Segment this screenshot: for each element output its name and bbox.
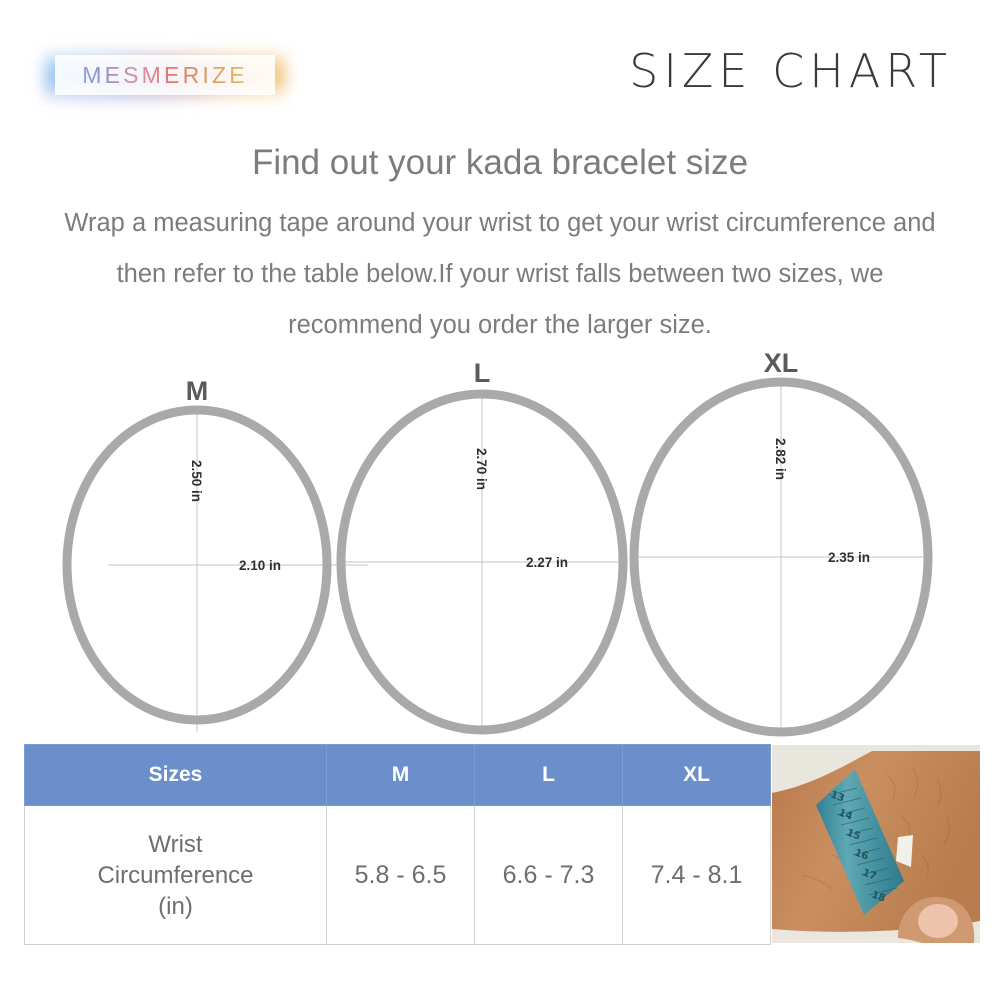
thumbnail [918,904,958,938]
intro-heading: Find out your kada bracelet size [0,143,1000,183]
wrist-measurement-photo: 13 14 15 16 17 18 [772,745,980,943]
brand-logo: MESMERIZE [44,44,286,106]
oval-label-xl: XL [764,350,799,378]
oval-height-label-m: 2.50 in [189,460,204,502]
table-header-l: L [475,745,623,806]
oval-width-label-m: 2.10 in [239,558,281,573]
intro-paragraph: Wrap a measuring tape around your wrist … [50,198,950,351]
oval-label-l: L [474,358,491,388]
page-title: SIZE CHART [629,44,952,98]
cell-wrist-xl: 7.4 - 8.1 [623,806,771,945]
oval-label-m: M [186,376,209,406]
row-label-line-1: Wrist [26,829,325,860]
table-header-row: Sizes M L XL [25,745,771,806]
table-header-sizes: Sizes [25,745,327,806]
brand-name: MESMERIZE [55,55,275,95]
row-label-line-2: Circumference [26,860,325,891]
bracelet-size-diagram: M 2.50 in 2.10 in L 2.70 in 2.27 in XL 2… [0,350,1000,742]
row-label-wrist-circumference: Wrist Circumference (in) [25,806,327,945]
cell-wrist-l: 6.6 - 7.3 [475,806,623,945]
oval-width-label-xl: 2.35 in [828,550,870,565]
table-header-xl: XL [623,745,771,806]
table-row: Wrist Circumference (in) 5.8 - 6.5 6.6 -… [25,806,771,945]
oval-height-label-l: 2.70 in [474,448,489,490]
row-label-line-3: (in) [26,891,325,922]
oval-group-m: M 2.50 in 2.10 in [67,376,368,732]
oval-width-label-l: 2.27 in [526,555,568,570]
table-header-m: M [327,745,475,806]
oval-group-l: L 2.70 in 2.27 in [341,358,628,734]
cell-wrist-m: 5.8 - 6.5 [327,806,475,945]
size-table: Sizes M L XL Wrist Circumference (in) 5.… [24,744,771,945]
oval-group-xl: XL 2.82 in 2.35 in [634,350,928,733]
oval-height-label-xl: 2.82 in [773,438,788,480]
